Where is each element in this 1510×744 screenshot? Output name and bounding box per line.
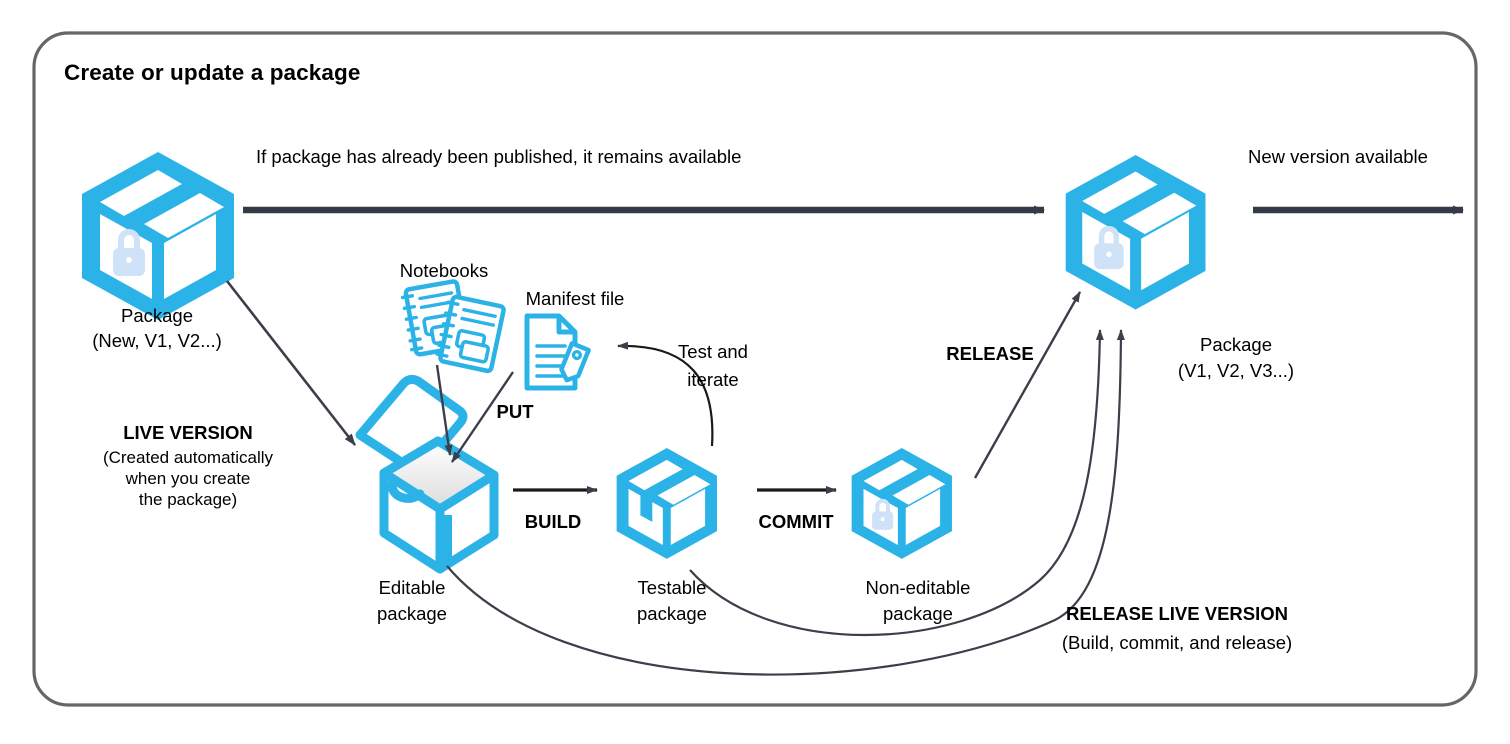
label-published-note: If package has already been published, i…: [256, 146, 741, 168]
edge-label-commit: COMMIT: [758, 511, 833, 533]
edge-label-test-iterate-line2: iterate: [687, 369, 738, 391]
annotation-release-live-version-line1: (Build, commit, and release): [1062, 632, 1292, 654]
manifest-file-icon: [527, 316, 589, 388]
edge-label-release: RELEASE: [946, 343, 1033, 365]
diagram-canvas: Create or update a package If package ha…: [0, 0, 1510, 744]
node-label-manifest: Manifest file: [526, 288, 625, 310]
annotation-live-version-heading: LIVE VERSION: [123, 422, 253, 444]
package-locked-icon-noneditable: [852, 448, 952, 559]
node-label-pkg-released-line1: Package: [1200, 334, 1272, 356]
package-sealed-icon-testable: [617, 448, 717, 559]
node-label-pkg-editable-line1: Editable: [379, 577, 446, 599]
package-open-icon-editable: [360, 379, 494, 569]
node-label-pkg-live-line2: (New, V1, V2...): [92, 330, 222, 352]
node-label-pkg-noneditable-line1: Non-editable: [866, 577, 971, 599]
node-label-pkg-testable-line2: package: [637, 603, 707, 625]
arrow-release: [975, 292, 1080, 478]
edge-label-put: PUT: [497, 401, 534, 423]
node-label-pkg-noneditable-line2: package: [883, 603, 953, 625]
label-new-version: New version available: [1248, 146, 1428, 168]
arrow-live-version: [227, 281, 355, 445]
edge-label-build: BUILD: [525, 511, 582, 533]
node-label-notebooks: Notebooks: [400, 260, 488, 282]
annotation-release-live-version-heading: RELEASE LIVE VERSION: [1066, 603, 1288, 625]
package-locked-icon-live: [82, 152, 234, 320]
node-label-pkg-released-line2: (V1, V2, V3...): [1178, 360, 1294, 382]
page-title: Create or update a package: [64, 60, 360, 87]
annotation-live-version-line2: when you create: [126, 469, 251, 489]
package-locked-icon-released: [1066, 155, 1206, 310]
node-label-pkg-testable-line1: Testable: [638, 577, 707, 599]
edge-label-test-iterate-line1: Test and: [678, 341, 748, 363]
node-label-pkg-editable-line2: package: [377, 603, 447, 625]
annotation-live-version-line1: (Created automatically: [103, 448, 273, 468]
node-label-pkg-live-line1: Package: [121, 305, 193, 327]
annotation-live-version-line3: the package): [139, 490, 237, 510]
notebooks-icon: [401, 281, 504, 372]
